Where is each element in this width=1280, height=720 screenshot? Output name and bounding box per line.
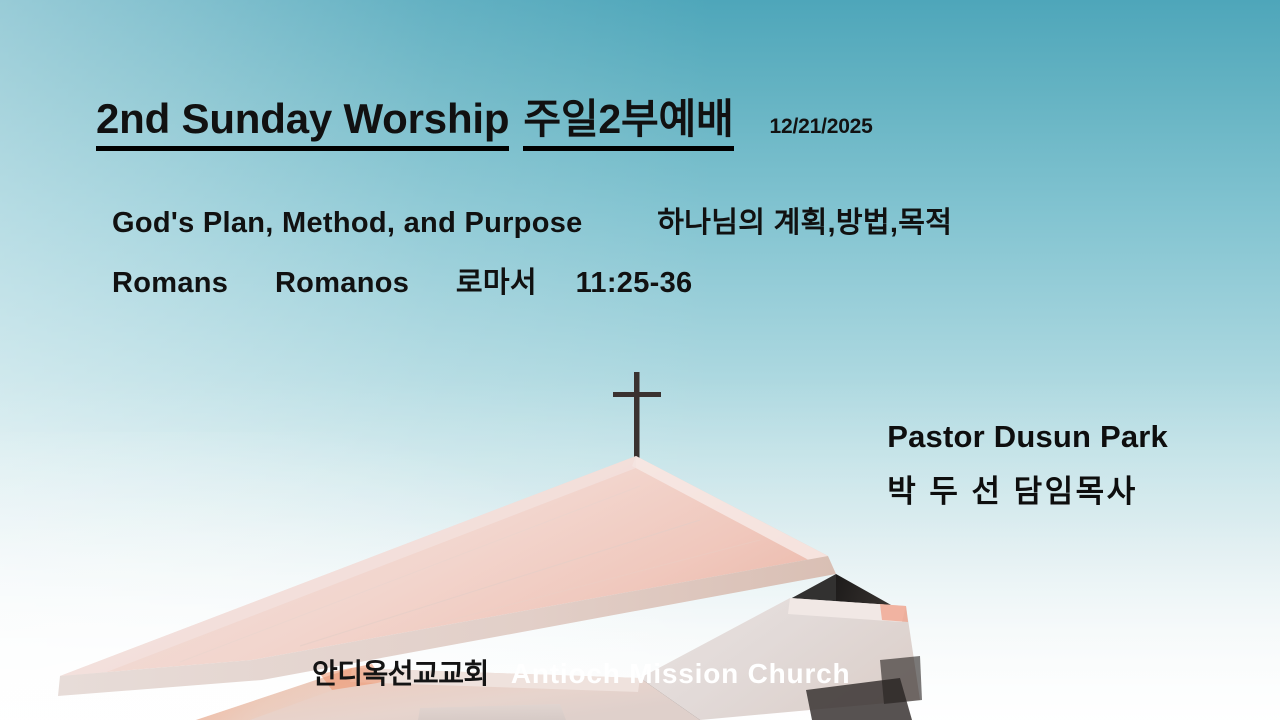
cross-icon [613,372,661,468]
sermon-topic-korean: 하나님의 계획,방법,목적 [657,207,952,239]
sermon-topic-english: God's Plan, Method, and Purpose [112,207,583,239]
speaker-name-korean: 박 두 선 담임목사 [887,473,1168,512]
worship-slide: 2nd Sunday Worship 주일2부예배 12/21/2025 God… [0,0,1280,720]
book-korean: 로마서 [456,267,537,299]
service-date: 12/21/2025 [770,115,873,139]
scripture-passage: 11:25-36 [576,267,693,299]
scripture-reference-line: Romans Romanos 로마서 11:25-36 [112,259,692,301]
church-name-block: 안디옥선교교회 Antioch Mission Church [312,652,850,692]
church-name-english: Antioch Mission Church [511,658,851,690]
book-english: Romans [112,267,228,299]
title-english: 2nd Sunday Worship [96,98,509,151]
slide-title-row: 2nd Sunday Worship 주일2부예배 12/21/2025 [96,98,873,151]
sermon-topic-line: God's Plan, Method, and Purpose 하나님의 계획,… [112,199,952,241]
title-korean: 주일2부예배 [523,99,733,151]
speaker-block: Pastor Dusun Park 박 두 선 담임목사 [887,418,1168,512]
speaker-name-english: Pastor Dusun Park [887,418,1168,457]
church-name-korean: 안디옥선교교회 [312,652,489,692]
book-spanish: Romanos [275,267,409,299]
